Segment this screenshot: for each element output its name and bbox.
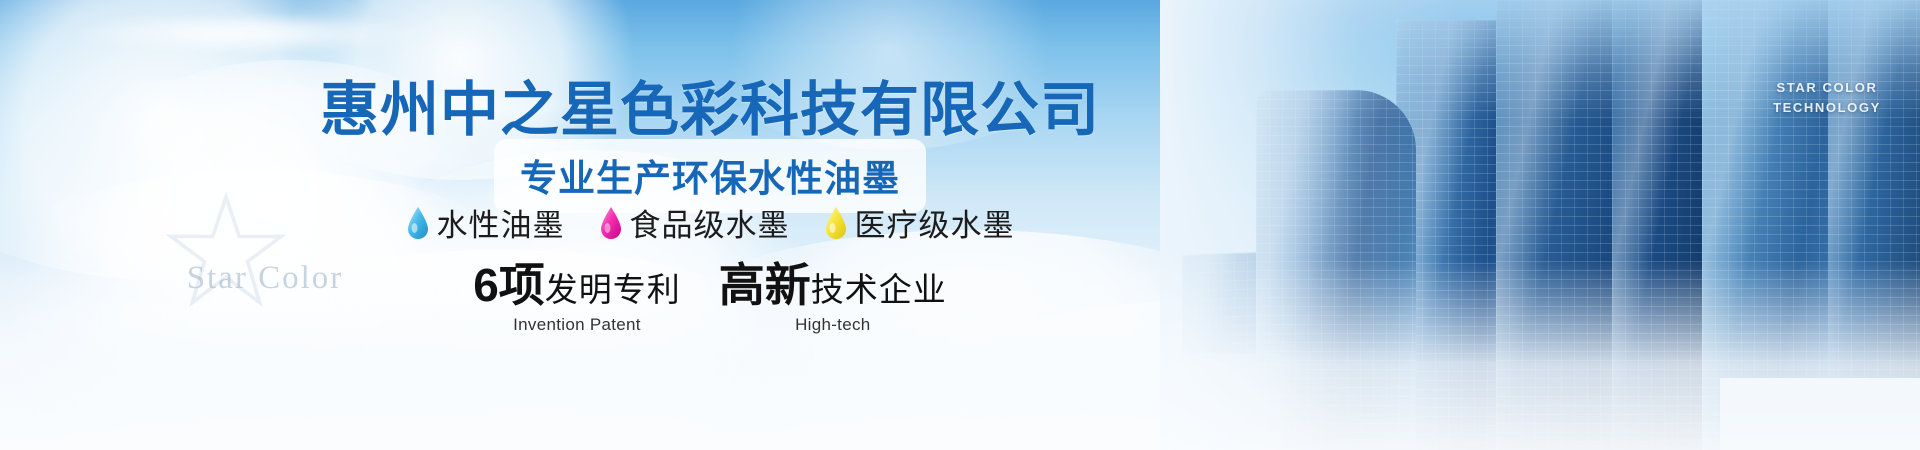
badge-rest: 技术企业 xyxy=(811,271,947,308)
banner-content: 惠州中之星色彩科技有限公司 专业生产环保水性油墨 水性油 xyxy=(0,0,1420,450)
product-feature-list: 水性油墨 食品级水墨 xyxy=(0,200,1420,245)
feature-item: 食品级水墨 xyxy=(599,200,790,245)
credential-badge: 6项发明专利 Invention Patent xyxy=(473,262,681,335)
badge-rest: 发明专利 xyxy=(545,271,681,308)
droplet-icon xyxy=(406,206,430,240)
star-color-technology-mark: STAR COLOR TECHNOLOGY xyxy=(1752,78,1902,118)
droplet-icon xyxy=(599,206,623,240)
building xyxy=(1612,0,1716,450)
star-color-technology-line1: STAR COLOR xyxy=(1752,78,1902,98)
feature-label: 食品级水墨 xyxy=(630,200,790,245)
badge-highlight: 高新 xyxy=(719,259,811,311)
badge-chinese-text: 高新技术企业 xyxy=(719,262,947,308)
badge-english-text: High-tech xyxy=(719,315,947,335)
company-hero-banner: STAR COLOR TECHNOLOGY Star Color 惠州中之星色彩… xyxy=(0,0,1920,450)
badge-highlight: 6项 xyxy=(473,259,545,311)
badge-english-text: Invention Patent xyxy=(473,315,681,335)
feature-item: 医疗级水墨 xyxy=(824,200,1015,245)
credential-badge-list: 6项发明专利 Invention Patent 高新技术企业 High-tech xyxy=(0,262,1420,335)
droplet-icon xyxy=(824,206,848,240)
feature-item: 水性油墨 xyxy=(406,200,565,245)
badge-chinese-text: 6项发明专利 xyxy=(473,262,681,308)
building xyxy=(1496,0,1628,450)
feature-label: 医疗级水墨 xyxy=(855,200,1015,245)
feature-label: 水性油墨 xyxy=(437,200,565,245)
credential-badge: 高新技术企业 High-tech xyxy=(719,262,947,335)
company-title: 惠州中之星色彩科技有限公司 xyxy=(0,62,1420,147)
building xyxy=(1720,378,1920,450)
star-color-technology-line2: TECHNOLOGY xyxy=(1752,98,1902,118)
